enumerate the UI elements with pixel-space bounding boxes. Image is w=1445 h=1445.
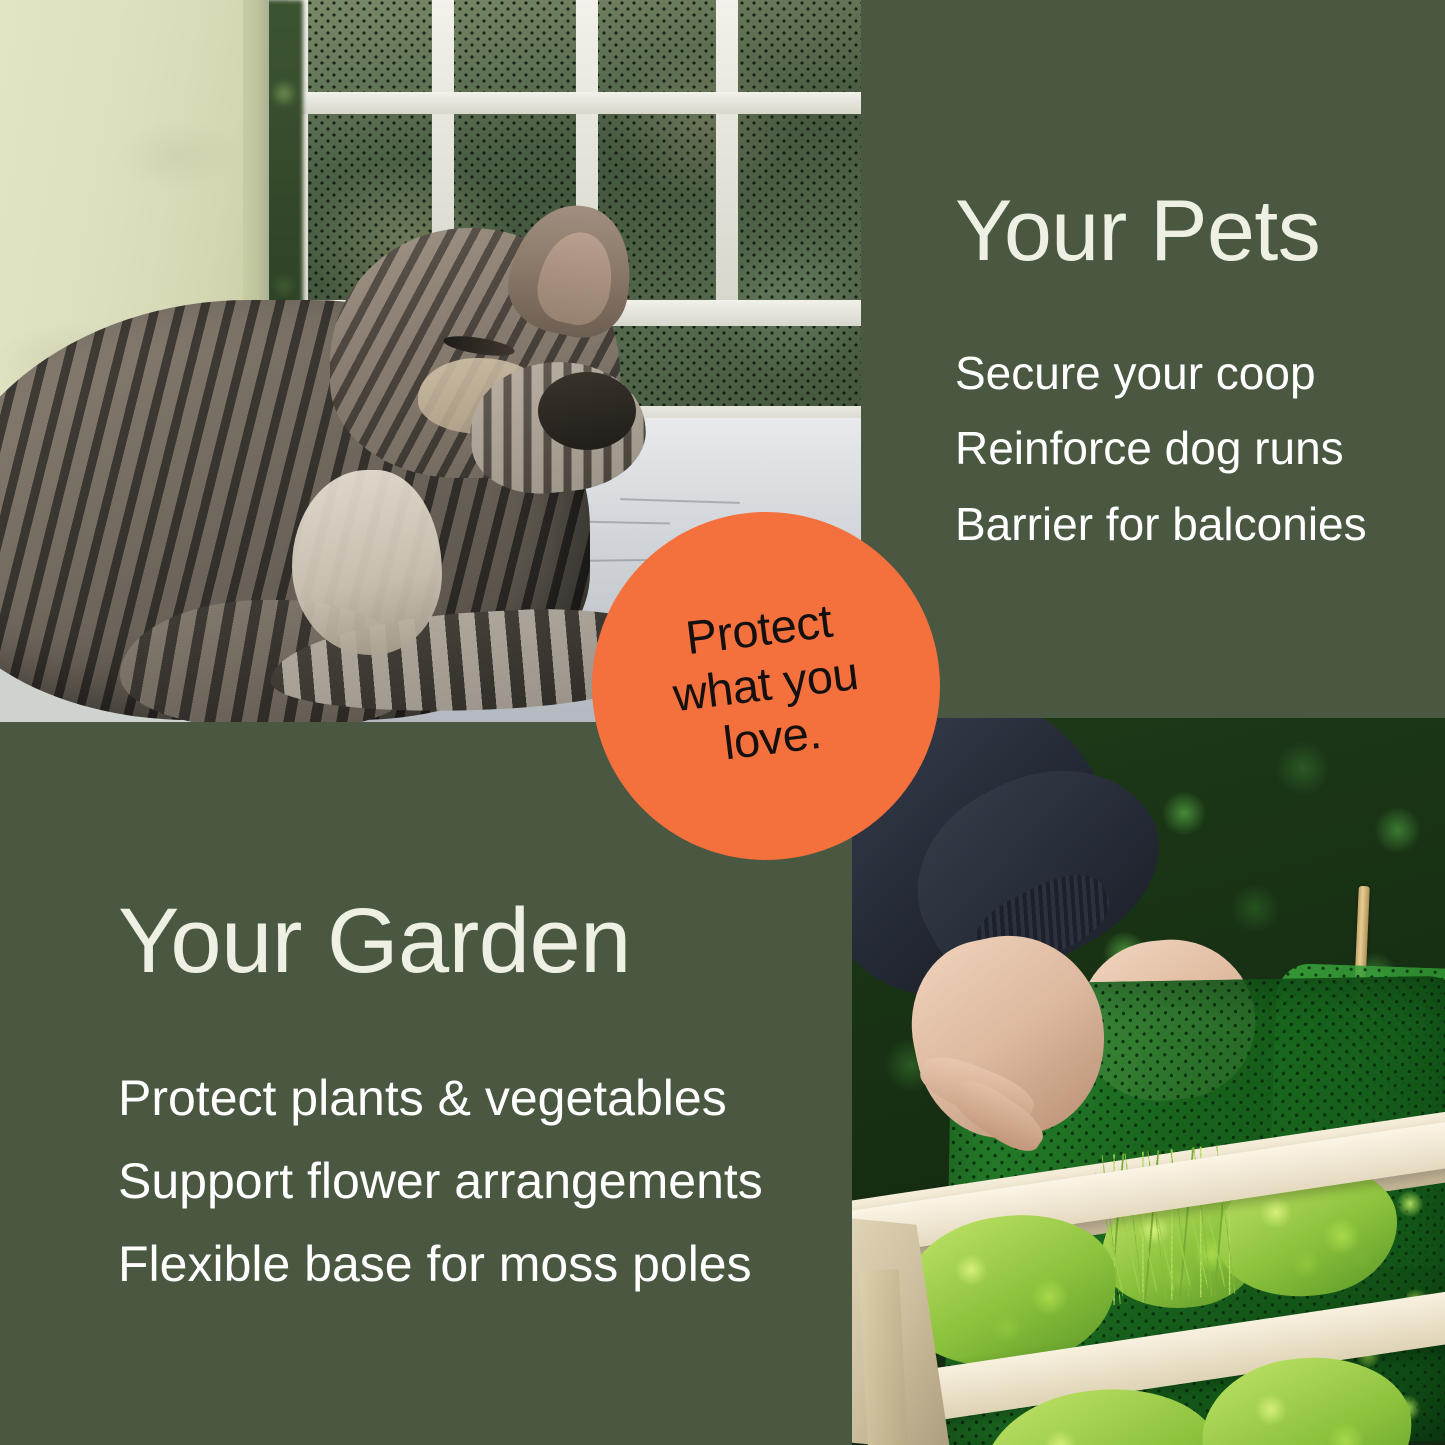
- pets-panel: Your Pets Secure your coop Reinforce dog…: [955, 188, 1425, 562]
- pets-bullet-list: Secure your coop Reinforce dog runs Barr…: [955, 336, 1425, 562]
- garden-panel: Your Garden Protect plants & vegetables …: [118, 895, 818, 1306]
- badge-text: Protect what you love.: [664, 592, 869, 781]
- garden-photo: [852, 718, 1445, 1445]
- pets-bullet-item: Reinforce dog runs: [955, 411, 1425, 486]
- garden-photo-quadrant: [852, 718, 1445, 1445]
- pets-heading: Your Pets: [955, 188, 1425, 274]
- garden-bullet-item: Protect plants & vegetables: [118, 1057, 818, 1140]
- garden-bullet-list: Protect plants & vegetables Support flow…: [118, 1057, 818, 1306]
- protect-what-you-love-badge: Protect what you love.: [592, 512, 940, 860]
- window-frame-bar: [288, 92, 861, 114]
- cat-chest: [292, 470, 442, 655]
- window-frame-bar: [716, 0, 738, 300]
- garden-bullet-item: Support flower arrangements: [118, 1140, 818, 1223]
- product-feature-poster: Your Pets Secure your coop Reinforce dog…: [0, 0, 1445, 1445]
- garden-bullet-item: Flexible base for moss poles: [118, 1223, 818, 1306]
- garden-heading: Your Garden: [118, 895, 818, 987]
- pets-bullet-item: Barrier for balconies: [955, 487, 1425, 562]
- cat-paw-dark: [538, 372, 636, 450]
- pets-bullet-item: Secure your coop: [955, 336, 1425, 411]
